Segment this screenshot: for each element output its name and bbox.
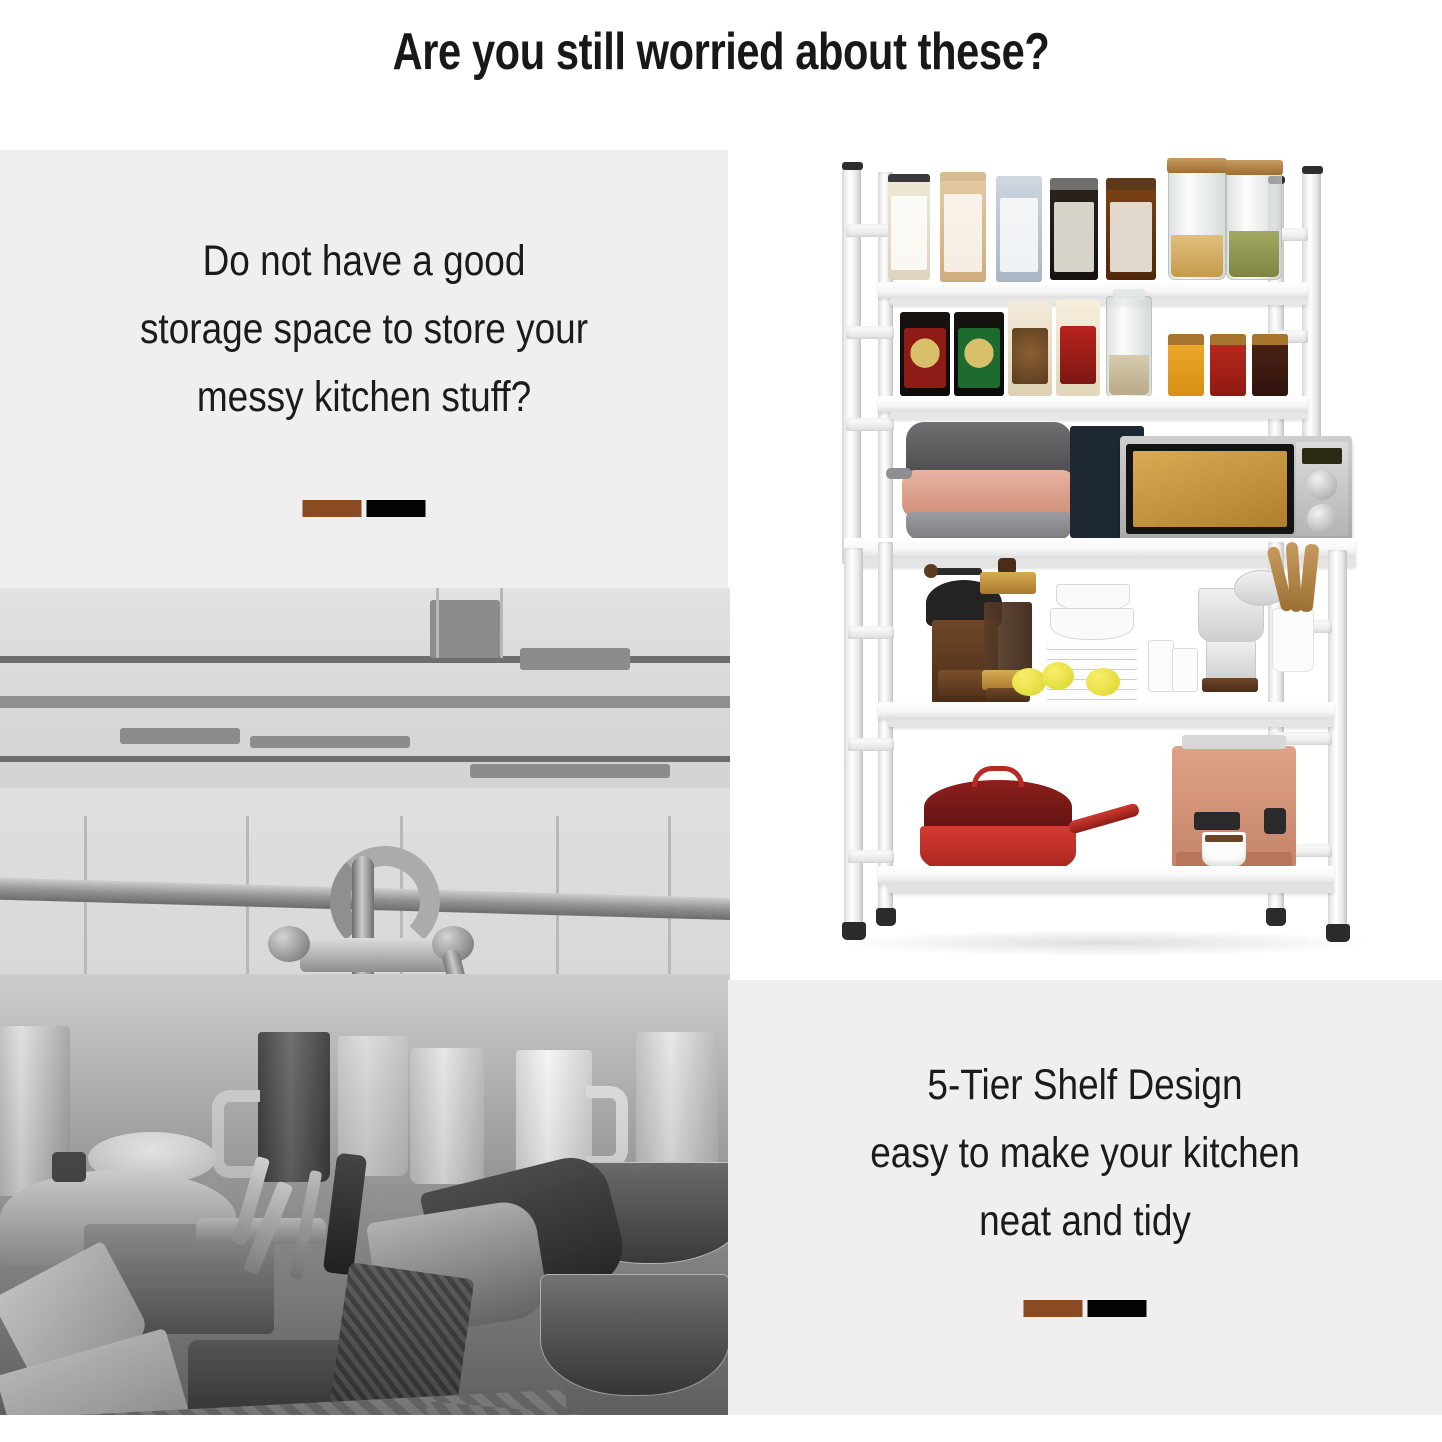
glass-jar-pasta [1168,166,1226,280]
coffee-box [1008,302,1052,396]
bowl-lower [1050,608,1134,640]
solution-panel: 5-Tier Shelf Design easy to make your ki… [728,980,1442,1415]
hutch-crossbar-left-1 [846,224,894,237]
hutch-crossbar-left-3 [846,418,894,431]
rice-cooker-handle [886,468,912,479]
problem-line-3: messy kitchen stuff? [51,364,677,432]
shelf-board-tier-5-edge [888,884,1334,893]
shelf-board-tier-1 [878,282,1308,298]
shelf-board-tier-4-edge [888,719,1334,727]
espresso-group-head [1194,812,1240,830]
five-tier-kitchen-rack [820,150,1400,960]
dark-preserve-jar [1050,178,1098,280]
spice-jar-yellow [1168,334,1204,396]
lemon-1 [1012,668,1046,696]
post-cap-right [1302,166,1323,174]
hutch-crossbar-left-2 [846,326,894,339]
skillet-lid-knob [972,766,1024,787]
solution-line-3: neat and tidy [778,1188,1392,1256]
lemon-3 [1086,668,1120,696]
foot-right-back [1266,908,1286,926]
sauce-tin-green [954,312,1004,396]
enamel-pot-base [1202,678,1258,692]
page-title: Are you still worried about these? [144,22,1298,82]
problem-divider [303,500,426,517]
espresso-top-plate [1182,735,1286,749]
microwave-door [1126,444,1294,534]
divider-brown-bar [303,500,362,517]
rice-cooker-base [906,512,1072,540]
sauce-tin-red [900,312,950,396]
dirty-dish-pile [0,974,730,1415]
espresso-cup [1202,832,1246,866]
enamel-pot [1206,640,1256,682]
spice-box [1056,300,1100,396]
skillet-handle [1068,802,1141,834]
press-brass-top [980,572,1036,594]
microwave-window [1133,451,1287,527]
microwave-control-panel [1296,442,1348,536]
foot-left-back [876,908,896,926]
problem-copy: Do not have a good storage space to stor… [51,228,677,432]
grinder-crank-knob [924,564,938,578]
product-floor-shadow [845,930,1365,956]
lower-crossbar-left-2 [848,738,894,751]
divider-brown-bar [1024,1300,1083,1317]
utensil-holder [1272,608,1314,672]
shelf-board-tier-4 [878,702,1334,719]
solution-copy: 5-Tier Shelf Design easy to make your ki… [778,1052,1392,1256]
shelf-board-tier-2 [878,396,1308,412]
lemon-2 [1042,662,1074,690]
lower-crossbar-left-3 [848,850,894,863]
espresso-coffee [1205,835,1243,842]
rice-cooker-body [902,470,1076,518]
solution-divider [1024,1300,1147,1317]
soap-dispenser-1 [1148,640,1174,692]
divider-black-bar [1088,1300,1147,1317]
espresso-steam-wand [1264,808,1286,834]
problem-line-1: Do not have a good [51,228,677,296]
oatmeal-canister-blue [996,176,1042,282]
stainless-microwave [1120,436,1352,542]
whole-wheat-canister [940,172,986,282]
marketing-image-canvas: Are you still worried about these? Do no… [0,0,1442,1442]
messy-kitchen-sink-photo [0,588,730,1415]
oatmeal-canister [888,174,930,280]
shelf-board-tier-2-edge [890,412,1308,419]
shelf-board-tier-5 [878,866,1334,884]
problem-panel: Do not have a good storage space to stor… [0,150,728,588]
amber-preserve-jar [1106,178,1156,280]
faucet-knob-left [268,926,310,962]
spice-jar-dark [1252,334,1288,396]
solution-line-1: 5-Tier Shelf Design [778,1052,1392,1120]
microwave-knob-upper [1307,470,1337,500]
solution-line-2: easy to make your kitchen [778,1120,1392,1188]
divider-black-bar [367,500,426,517]
post-cap-left [842,162,863,170]
spice-jar-red [1210,334,1246,396]
problem-line-2: storage space to store your [51,296,677,364]
microwave-knob-lower [1307,504,1337,534]
faucet-body [300,938,450,972]
french-press-glass [984,602,1032,676]
soap-dispenser-2 [1172,648,1198,692]
glass-jar-grain [1226,168,1282,280]
lower-crossbar-left-1 [848,626,894,639]
microwave-display [1302,448,1342,464]
clamp-jar-grain [1106,296,1152,398]
